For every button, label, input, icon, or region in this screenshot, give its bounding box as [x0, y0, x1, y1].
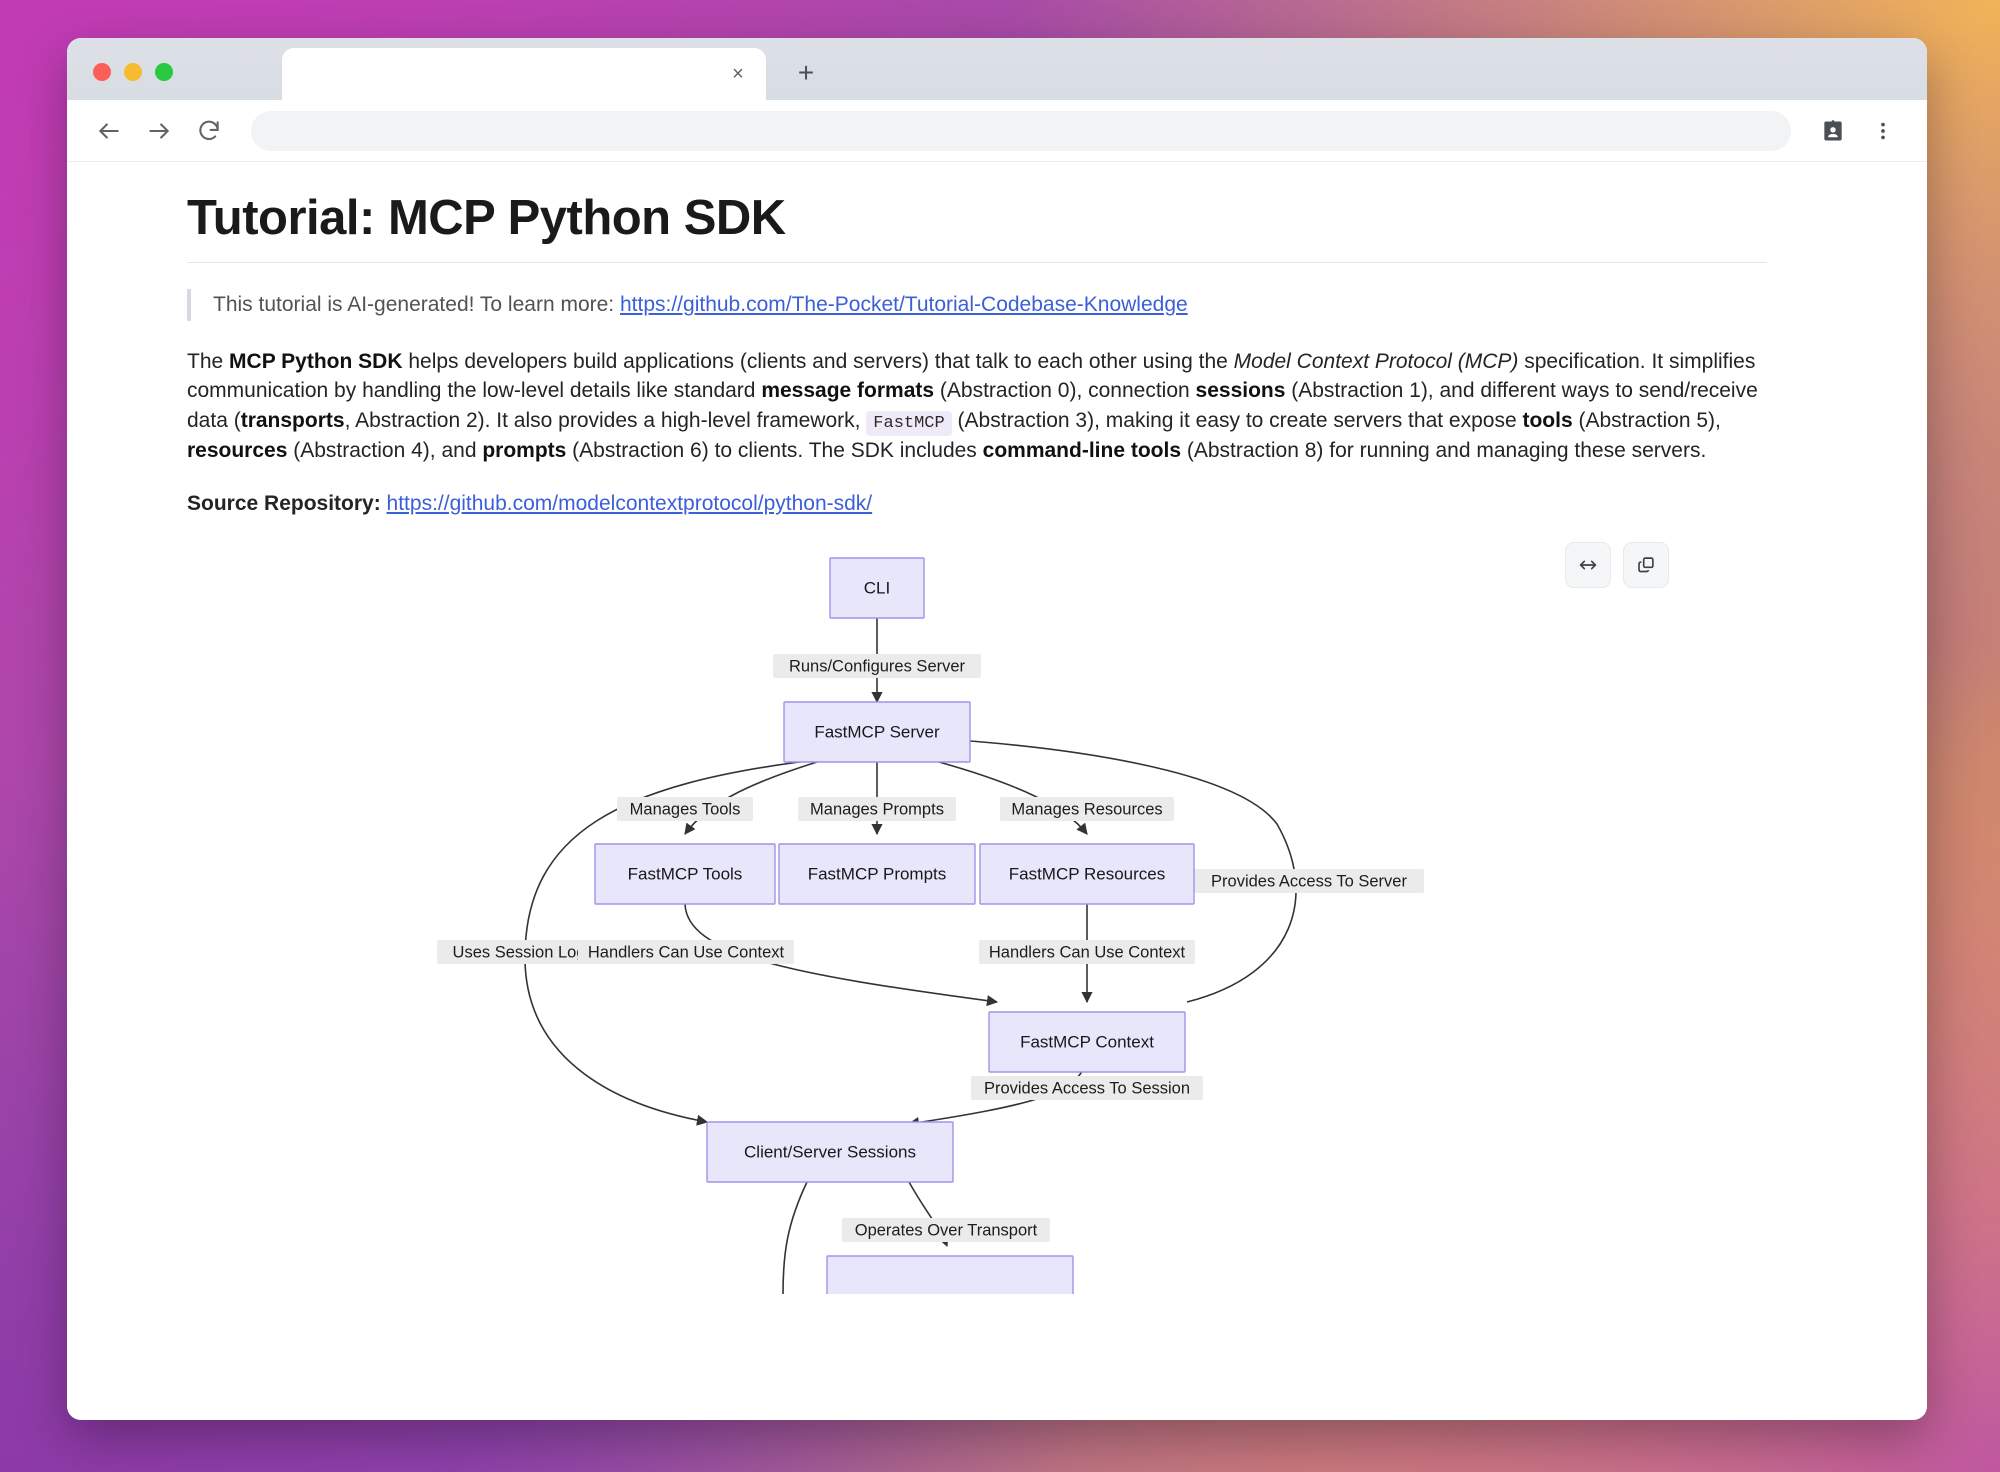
diagram-node-transport[interactable]	[827, 1256, 1073, 1294]
intro-seg-1: The	[187, 350, 229, 373]
intro-bold-sdk: MCP Python SDK	[229, 350, 402, 373]
minimize-window-button[interactable]	[124, 63, 142, 81]
mermaid-diagram: Runs/Configures Server Manages Tools Man…	[187, 534, 1767, 1294]
edge-label-handlers-can-use-context-tools: Handlers Can Use Context	[578, 940, 794, 964]
svg-text:Handlers Can Use Context: Handlers Can Use Context	[588, 943, 785, 961]
maximize-window-button[interactable]	[155, 63, 173, 81]
back-arrow-icon[interactable]	[87, 109, 131, 153]
edge-label-manages-prompts: Manages Prompts	[798, 797, 956, 821]
svg-text:Uses Session Logic: Uses Session Logic	[453, 943, 598, 961]
intro-seg-8: (Abstraction 5),	[1573, 409, 1721, 432]
close-window-button[interactable]	[93, 63, 111, 81]
diagram-node-fastmcp-prompts[interactable]: FastMCP Prompts	[779, 844, 975, 904]
edge-sessions-to-offscreen	[783, 1182, 807, 1294]
svg-text:Runs/Configures Server: Runs/Configures Server	[789, 657, 966, 675]
svg-text:Handlers Can Use Context: Handlers Can Use Context	[989, 943, 1186, 961]
diagram-svg: Runs/Configures Server Manages Tools Man…	[187, 534, 1767, 1294]
page-viewport: Tutorial: MCP Python SDK This tutorial i…	[67, 162, 1927, 1420]
intro-seg-6: , Abstraction 2). It also provides a hig…	[345, 409, 867, 432]
forward-arrow-icon[interactable]	[137, 109, 181, 153]
intro-seg-7: (Abstraction 3), making it easy to creat…	[952, 409, 1523, 432]
intro-paragraph: The MCP Python SDK helps developers buil…	[187, 347, 1767, 467]
diagram-container: Runs/Configures Server Manages Tools Man…	[187, 534, 1767, 1294]
article: Tutorial: MCP Python SDK This tutorial i…	[187, 190, 1767, 1294]
svg-text:Manages Tools: Manages Tools	[630, 800, 741, 818]
window-traffic-lights	[93, 63, 173, 81]
svg-text:Provides Access To Server: Provides Access To Server	[1211, 872, 1407, 890]
page-title: Tutorial: MCP Python SDK	[187, 190, 1767, 263]
svg-text:FastMCP Context: FastMCP Context	[1020, 1033, 1154, 1052]
intro-seg-11: (Abstraction 8) for running and managing…	[1181, 439, 1706, 462]
diagram-node-fastmcp-context[interactable]: FastMCP Context	[989, 1012, 1185, 1072]
intro-bold-message-formats: message formats	[761, 379, 934, 402]
copy-icon[interactable]	[1623, 542, 1669, 588]
svg-text:Client/Server Sessions: Client/Server Sessions	[744, 1143, 916, 1162]
close-tab-icon[interactable]: ×	[724, 60, 752, 88]
expand-width-icon[interactable]	[1565, 542, 1611, 588]
intro-bold-transports: transports	[241, 409, 345, 432]
diagram-node-cli[interactable]: CLI	[830, 558, 924, 618]
svg-text:Manages Resources: Manages Resources	[1011, 800, 1162, 818]
svg-text:CLI: CLI	[864, 579, 890, 598]
svg-text:Manages Prompts: Manages Prompts	[810, 800, 944, 818]
address-bar[interactable]	[251, 111, 1791, 151]
tab-strip: × +	[67, 38, 1927, 100]
browser-window: × +	[67, 38, 1927, 1420]
intro-bold-prompts: prompts	[482, 439, 566, 462]
intro-bold-resources: resources	[187, 439, 287, 462]
svg-text:FastMCP Prompts: FastMCP Prompts	[808, 865, 947, 884]
svg-text:FastMCP Tools: FastMCP Tools	[628, 865, 743, 884]
ai-generated-note: This tutorial is AI-generated! To learn …	[187, 289, 1767, 321]
diagram-node-fastmcp-tools[interactable]: FastMCP Tools	[595, 844, 775, 904]
svg-text:Operates Over Transport: Operates Over Transport	[855, 1221, 1038, 1239]
intro-bold-cli-tools: command-line tools	[983, 439, 1181, 462]
browser-tab[interactable]: ×	[282, 48, 766, 100]
diagram-node-client-server-sessions[interactable]: Client/Server Sessions	[707, 1122, 953, 1182]
edge-label-provides-access-to-server: Provides Access To Server	[1194, 869, 1424, 893]
diagram-node-fastmcp-resources[interactable]: FastMCP Resources	[980, 844, 1194, 904]
diagram-toolbar	[1565, 542, 1669, 588]
intro-bold-tools: tools	[1522, 409, 1572, 432]
browser-toolbar	[67, 100, 1927, 162]
edge-label-provides-access-to-session: Provides Access To Session	[971, 1076, 1203, 1100]
source-repository-label: Source Repository:	[187, 492, 387, 515]
reload-icon[interactable]	[187, 109, 231, 153]
note-text: This tutorial is AI-generated! To learn …	[213, 293, 620, 316]
edge-label-runs-configures-server: Runs/Configures Server	[773, 654, 981, 678]
source-repository-line: Source Repository: https://github.com/mo…	[187, 492, 1767, 516]
note-link[interactable]: https://github.com/The-Pocket/Tutorial-C…	[620, 293, 1188, 316]
intro-seg-4: (Abstraction 0), connection	[934, 379, 1195, 402]
svg-text:FastMCP Resources: FastMCP Resources	[1009, 865, 1166, 884]
edge-label-manages-tools: Manages Tools	[617, 797, 753, 821]
intro-italic-mcp: Model Context Protocol (MCP)	[1234, 350, 1519, 373]
edge-label-manages-resources: Manages Resources	[1000, 797, 1174, 821]
intro-seg-9: (Abstraction 4), and	[287, 439, 482, 462]
source-repository-link[interactable]: https://github.com/modelcontextprotocol/…	[387, 492, 873, 515]
edge-label-handlers-can-use-context-resources: Handlers Can Use Context	[979, 940, 1195, 964]
intro-bold-sessions: sessions	[1196, 379, 1286, 402]
intro-seg-2: helps developers build applications (cli…	[403, 350, 1234, 373]
diagram-node-fastmcp-server[interactable]: FastMCP Server	[784, 702, 970, 762]
edge-label-operates-over-transport: Operates Over Transport	[842, 1218, 1050, 1242]
new-tab-button[interactable]: +	[789, 56, 823, 90]
profile-badge-icon[interactable]	[1811, 109, 1855, 153]
intro-seg-10: (Abstraction 6) to clients. The SDK incl…	[566, 439, 982, 462]
inline-code-fastmcp: FastMCP	[866, 411, 951, 436]
svg-text:Provides Access To Session: Provides Access To Session	[984, 1079, 1190, 1097]
svg-text:FastMCP Server: FastMCP Server	[814, 723, 940, 742]
kebab-menu-icon[interactable]	[1861, 109, 1905, 153]
